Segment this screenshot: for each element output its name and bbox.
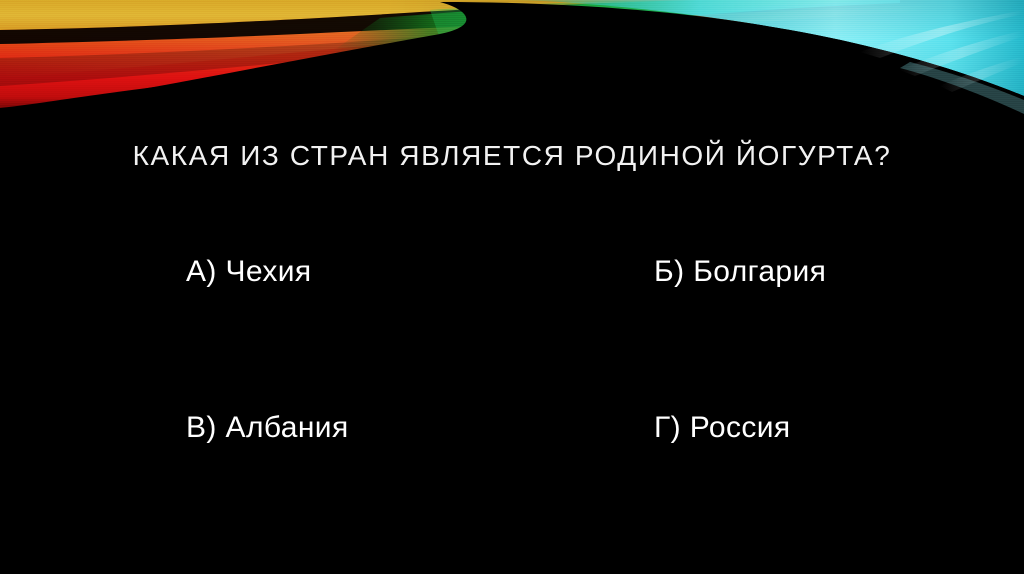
answer-options: А) Чехия Б) Болгария В) Албания Г) Росси… xyxy=(0,228,1024,488)
quiz-slide: КАКАЯ ИЗ СТРАН ЯВЛЯЕТСЯ РОДИНОЙ ЙОГУРТА?… xyxy=(0,0,1024,574)
answer-option-c-label: В) Албания xyxy=(186,409,349,447)
decorative-swoosh-banner xyxy=(0,0,1024,132)
swoosh-graphic xyxy=(0,0,1024,132)
answer-option-d[interactable]: Г) Россия xyxy=(512,400,1024,456)
answer-option-b[interactable]: Б) Болгария xyxy=(512,244,1024,300)
answer-option-c[interactable]: В) Албания xyxy=(0,400,512,456)
answer-option-b-label: Б) Болгария xyxy=(654,253,826,291)
answer-option-a[interactable]: А) Чехия xyxy=(0,244,512,300)
answer-row-2: В) Албания Г) Россия xyxy=(0,400,1024,456)
question-title: КАКАЯ ИЗ СТРАН ЯВЛЯЕТСЯ РОДИНОЙ ЙОГУРТА? xyxy=(0,138,1024,174)
answer-row-1: А) Чехия Б) Болгария xyxy=(0,244,1024,300)
answer-option-a-label: А) Чехия xyxy=(186,253,312,291)
answer-option-d-label: Г) Россия xyxy=(654,409,791,447)
